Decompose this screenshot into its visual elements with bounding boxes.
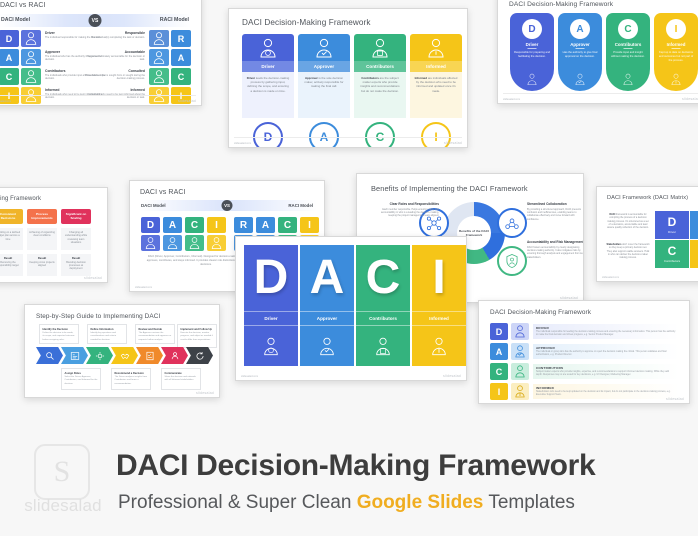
slide-title: DACI Decision-Making Framework <box>509 1 613 8</box>
role-desc: Provide input and insight without making… <box>610 51 646 59</box>
approver-person-icon <box>511 343 529 360</box>
step-desc: Define the decision to be made, its scop… <box>43 332 76 341</box>
benefit-card[interactable]: Process Improvements Achieving of organi… <box>27 209 57 276</box>
slide-title: DACI vs RACI <box>0 2 46 9</box>
daci-letter: D <box>141 217 160 233</box>
slide-footer: slidesalad.com slidesalad <box>498 93 698 101</box>
slide-title: Benefits of Implementing the DACI Framew… <box>371 184 528 193</box>
role-desc: Informed are individuals affected by the… <box>410 72 462 118</box>
approver-person-icon <box>298 34 350 61</box>
vs-badge: VS <box>222 200 233 211</box>
logo-mark-icon: S <box>34 444 90 500</box>
letter-badge: A <box>490 343 508 360</box>
column-contributors[interactable]: Contributors Contributors are the subjec… <box>354 34 406 118</box>
people-board-icon[interactable] <box>61 347 88 364</box>
letter-badge: C <box>618 19 638 39</box>
slide-footer: slidesalad <box>479 393 689 401</box>
footer-site: slidesalad.com <box>234 142 251 145</box>
card-caption: Process Improvements <box>27 209 57 224</box>
footer-mark: slidesalad <box>196 391 214 395</box>
letter-badge: I <box>666 19 686 39</box>
cycle-icon[interactable] <box>186 347 213 364</box>
big-letter: D <box>244 245 298 311</box>
footer-mark: slidesalad <box>444 141 462 145</box>
logo-letter: S <box>54 457 71 487</box>
informed-person-icon <box>412 326 466 366</box>
matrix-note-1: DACI framework is accountable for compil… <box>606 213 650 230</box>
driver-person-icon <box>141 235 160 251</box>
footer-mark: slidesalad <box>443 374 461 378</box>
letter-badge: C <box>490 363 508 380</box>
slide-big-daci[interactable]: D Driver A Approver C Contributors I Inf… <box>235 236 467 381</box>
role-name: Driver <box>244 311 298 326</box>
footer-site: slidesalad.com <box>135 286 152 289</box>
letter-badge: D <box>490 323 508 340</box>
magnifier-icon[interactable] <box>36 347 63 364</box>
role-name: Contributors <box>354 61 406 72</box>
footer-site: slidesalad.com <box>602 276 619 279</box>
list-text: DRIVERThe individual responsible for lea… <box>533 324 679 339</box>
role-desc: Approver is the sole decision maker, act… <box>298 72 350 118</box>
approver-person-icon <box>21 49 41 66</box>
slide-gallery: DACI vs RACI VS DACI Model RACI Model D … <box>0 0 698 418</box>
letter-badge: A <box>570 19 590 39</box>
gear-people-icon[interactable] <box>86 347 113 364</box>
matrix-cell-informed[interactable]: I Informed <box>690 240 698 268</box>
role-name: Driver <box>668 230 676 234</box>
checklist-icon[interactable] <box>136 347 163 364</box>
raci-person-icon <box>149 68 169 85</box>
footer-site: slidesalad.com <box>0 100 11 103</box>
contributor-person-icon <box>21 68 41 85</box>
slide-footer: slidesalad <box>25 387 219 395</box>
raci-role-text: ConsultedThose whose input is sought fro… <box>81 69 145 81</box>
step-desc: Execute the decision, monitor progress, … <box>181 332 214 341</box>
network-icon <box>497 208 527 238</box>
role-name: Approver <box>298 61 350 72</box>
driver-person-icon <box>242 34 294 61</box>
role-desc: Driver leads the decision-making process… <box>242 72 294 118</box>
vs-badge: VS <box>89 14 102 27</box>
footer-mark: slidesalad <box>682 97 698 101</box>
daci-letter: C <box>185 217 204 233</box>
step-title: Implement and Follow Up <box>181 328 214 331</box>
slide-footer: slidesalad.com slidesalad <box>236 370 466 378</box>
logo-wordmark: slidesalad <box>18 496 108 516</box>
big-column-contributors[interactable]: C Contributors <box>356 245 410 366</box>
role-desc: Has the authority to give final approval… <box>562 51 598 59</box>
matrix-note-2: Stakeholders don't cover the framework s… <box>606 243 650 260</box>
role-name: Approver <box>300 311 354 326</box>
card-body-1: Deciding on a defined budget plan across… <box>0 228 23 250</box>
slide-title: Step-by-Step Guide to Implementing DACI <box>36 313 160 320</box>
subtitle-highlight: Google Slides <box>357 492 484 513</box>
list-text: APPROVERThe individual or group who has … <box>533 344 679 359</box>
raci-role-text: ResponsibleThe individual(s) completing … <box>81 31 145 39</box>
slide-steps[interactable]: Step-by-Step Guide to Implementing DACI … <box>24 304 220 398</box>
role-desc: Responsible for preparing and facilitati… <box>514 51 550 59</box>
card-body-1: Changing all understanding while reviewi… <box>61 228 91 250</box>
card-caption: Consistent Decisions <box>0 209 23 224</box>
raci-letter: A <box>171 49 191 66</box>
matrix-cell-approver[interactable]: A Approver <box>690 211 698 239</box>
daci-model-label: DACI Model <box>141 203 166 208</box>
handshake-icon[interactable] <box>111 347 138 364</box>
pill-driver[interactable]: D Driver Responsible for preparing and f… <box>510 13 554 91</box>
contributor-person-icon <box>356 326 410 366</box>
raci-letter: R <box>171 30 191 47</box>
card-caption: Significant on Scaling <box>61 209 91 224</box>
slide-title: DACI Framework (DACI Matrix) <box>607 195 688 201</box>
slide-footer: slidesalad <box>0 272 107 280</box>
raci-letter: C <box>171 68 191 85</box>
footer-mark: slidesalad <box>666 397 684 401</box>
slide-title: DACI vs RACI <box>140 189 186 196</box>
slide-footer: slidesalad.com slidesalad <box>229 137 467 145</box>
footer-mark: slidesalad <box>178 99 196 103</box>
daci-letter: I <box>207 217 226 233</box>
raci-letter: R <box>234 217 253 233</box>
step-title: Recommend a Decision <box>115 372 148 375</box>
contributor-person-icon <box>511 363 529 380</box>
slide-daci-vs-raci-top[interactable]: DACI vs RACI VS DACI Model RACI Model D … <box>0 0 202 106</box>
daci-letter: C <box>0 68 19 85</box>
big-letter: C <box>356 245 410 311</box>
slide-title: I Decision-Making Framework <box>0 196 41 202</box>
slide-framework-pills[interactable]: DACI Decision-Making Framework D Driver … <box>497 0 698 104</box>
shield-team-icon <box>497 246 527 276</box>
raci-person-icon <box>149 49 169 66</box>
contributor-person-icon <box>354 34 406 61</box>
slide-title: DACI Decision-Making Framework <box>242 18 371 27</box>
step-box[interactable]: Define Information Identify key question… <box>87 324 127 344</box>
slide-title: DACI Decision-Making Framework <box>490 309 591 316</box>
role-name: Informed <box>410 61 462 72</box>
slide-footer: slidesalad.com <box>597 271 698 279</box>
step-title: Assign Roles <box>65 372 98 375</box>
table-row[interactable]: A ApproverThe individual who has the aut… <box>0 49 191 66</box>
card-body-1: Achieving of organizing clear conditions <box>27 228 57 250</box>
benefit-item: Accountability and Risk ManagementDACI f… <box>527 240 584 259</box>
role-name: Contributors <box>606 42 650 47</box>
driver-person-icon <box>21 30 41 47</box>
letter-badge: D <box>522 19 542 39</box>
role-name: Contributors <box>664 259 680 263</box>
approver-person-icon <box>163 235 182 251</box>
step-desc: The Driver analyzes insights from Contri… <box>115 376 148 385</box>
benefit-card[interactable]: Significant on Scaling Changing all unde… <box>61 209 91 276</box>
driver-person-icon <box>511 323 529 340</box>
benefit-card[interactable]: Consistent Decisions Deciding on a defin… <box>0 209 23 276</box>
matrix-cell-contributors[interactable]: C Contributors <box>655 240 689 268</box>
role-name: Contributors <box>356 311 410 326</box>
step-box[interactable]: Review and Decide The Approver reviews t… <box>135 324 175 344</box>
benefit-item: Streamlined CollaborationBy providing a … <box>527 202 584 221</box>
role-name: Approver <box>558 42 602 47</box>
step-box[interactable]: Implement and Follow Up Execute the deci… <box>177 324 217 348</box>
broadcast-icon[interactable] <box>161 347 188 364</box>
pill-informed[interactable]: I Informed Kept up to date on decisions … <box>654 13 698 91</box>
step-title: Identify the Decision <box>43 328 76 331</box>
daci-letter: D <box>0 30 19 47</box>
daci-letter: A <box>0 49 19 66</box>
branding-bar: S slidesalad DACI Decision-Making Framew… <box>0 418 698 536</box>
letter: D <box>668 216 677 228</box>
matrix-cell-driver[interactable]: D Driver <box>655 211 689 239</box>
raci-role-text: AccountableThe person ultimately account… <box>81 50 145 62</box>
role-name: Driver <box>510 42 554 47</box>
role-name: Driver <box>242 61 294 72</box>
divider <box>624 48 633 49</box>
subtitle-after: Templates <box>483 492 575 513</box>
step-desc: Share the decision and rationale with al… <box>165 376 198 382</box>
divider <box>528 48 537 49</box>
big-column-informed[interactable]: I Informed <box>412 245 466 366</box>
big-column-driver[interactable]: D Driver <box>244 245 298 366</box>
step-desc: Select the Driver, Approver, Contributor… <box>65 376 98 385</box>
subtitle-before: Professional & Super Clean <box>118 492 357 513</box>
raci-letter: A <box>256 217 275 233</box>
role-name: Informed <box>654 42 698 47</box>
footer-site: slidesalad.com <box>241 375 258 378</box>
contributor-person-icon <box>185 235 204 251</box>
step-title: Review and Decide <box>139 328 172 331</box>
pill-approver[interactable]: A Approver Has the authority to give fin… <box>558 13 602 91</box>
slide-benefit-cards-partial[interactable]: I Decision-Making Framework Clear Struct… <box>0 187 108 283</box>
informed-person-icon <box>667 72 685 87</box>
informed-person-icon <box>207 235 226 251</box>
contributor-person-icon <box>619 72 637 87</box>
slide-framework-main[interactable]: DACI Decision-Making Framework Driver Dr… <box>228 8 468 148</box>
slide-list-version[interactable]: DACI Decision-Making Framework D DRIVERT… <box>478 300 690 404</box>
table-row[interactable]: D DriverThe individual responsible for m… <box>0 30 191 47</box>
big-letter: A <box>300 245 354 311</box>
footer-site: slidesalad.com <box>503 98 520 101</box>
role-desc: Contributors are the subject matter expe… <box>354 72 406 118</box>
page-title: DACI Decision-Making Framework <box>116 449 595 483</box>
step-desc: Identify key questions and consideration… <box>91 332 124 341</box>
column-informed[interactable]: Informed Informed are individuals affect… <box>410 34 462 118</box>
column-approver[interactable]: Approver Approver is the sole decision m… <box>298 34 350 118</box>
slide-daci-matrix[interactable]: DACI Framework (DACI Matrix) DACI framew… <box>596 186 698 282</box>
step-box[interactable]: Identify the Decision Define the decisio… <box>39 324 79 344</box>
slide-footer: slidesalad.com slidesalad <box>0 95 201 103</box>
table-row[interactable]: C ContributorsThe individuals who provid… <box>0 68 191 85</box>
divider <box>576 48 585 49</box>
big-letter: I <box>412 245 466 311</box>
raci-model-label: RACI Model <box>160 17 189 23</box>
approver-person-icon <box>571 72 589 87</box>
step-desc: The Approver reviews the recommendation … <box>139 332 172 341</box>
letter: C <box>668 245 677 257</box>
role-name: Informed <box>412 311 466 326</box>
pill-contributors[interactable]: C Contributors Provide input and insight… <box>606 13 650 91</box>
benefit-item: Clear Roles and ResponsibilitiesEach mem… <box>379 202 439 218</box>
page-subtitle: Professional & Super Clean Google Slides… <box>118 492 575 514</box>
slidesalad-logo: S slidesalad <box>22 440 98 516</box>
informed-person-icon <box>410 34 462 61</box>
raci-model-label: RACI Model <box>288 203 313 208</box>
big-column-approver[interactable]: A Approver <box>300 245 354 366</box>
column-driver[interactable]: Driver Driver leads the decision-making … <box>242 34 294 118</box>
list-text: CONTRIBUTORSSubject matter experts who p… <box>533 364 679 379</box>
footer-mark: slidesalad <box>84 276 102 280</box>
daci-model-label: DACI Model <box>1 17 30 23</box>
role-desc: Kept up to date on decisions and outcome… <box>658 51 694 62</box>
step-title: Communicate <box>165 372 198 375</box>
approver-person-icon <box>300 326 354 366</box>
driver-person-icon <box>523 72 541 87</box>
step-title: Define Information <box>91 328 124 331</box>
raci-letter: I <box>300 217 319 233</box>
divider <box>672 48 681 49</box>
raci-person-icon <box>149 30 169 47</box>
driver-person-icon <box>244 326 298 366</box>
raci-letter: C <box>278 217 297 233</box>
daci-letter: A <box>163 217 182 233</box>
